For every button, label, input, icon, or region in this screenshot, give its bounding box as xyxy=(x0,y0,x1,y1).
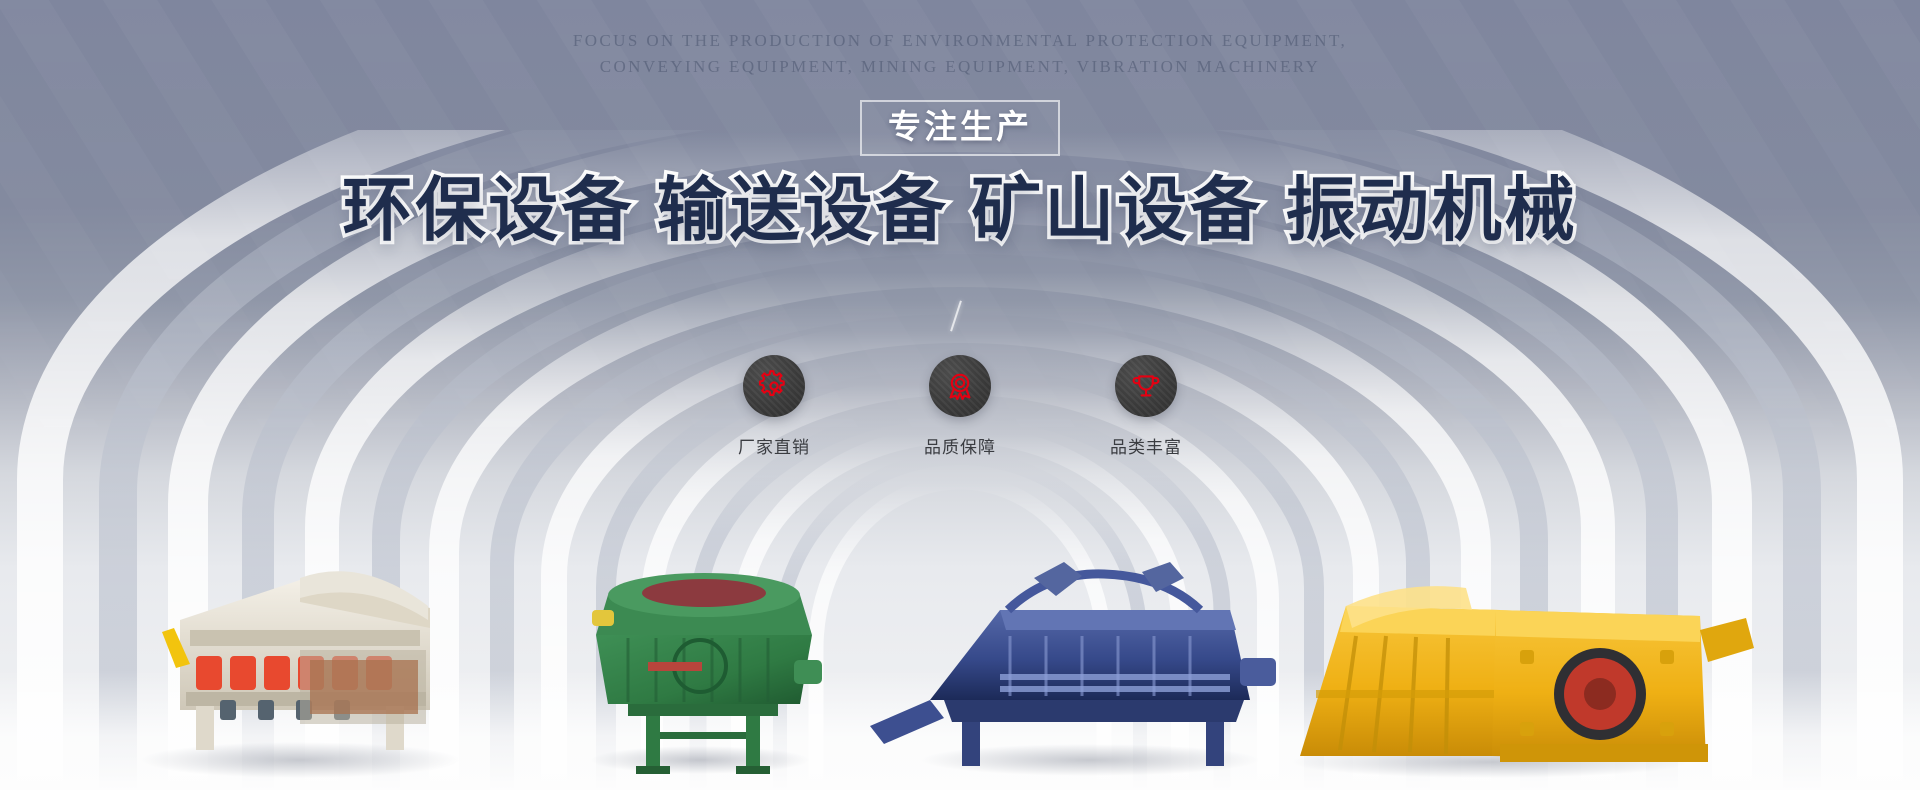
eyebrow-tagline: FOCUS ON THE PRODUCTION OF ENVIRONMENTAL… xyxy=(0,28,1920,80)
badge-wrapper: 专注生产 xyxy=(0,100,1920,156)
decorative-tick xyxy=(950,300,962,331)
feature-list: 厂家直销 品质保障 xyxy=(0,355,1920,458)
feature-label: 品质保障 xyxy=(924,433,996,458)
feature-label: 品类丰富 xyxy=(1110,433,1182,458)
focus-production-badge: 专注生产 xyxy=(860,100,1060,156)
feature-item-factory-direct[interactable]: 厂家直销 xyxy=(712,355,836,458)
trophy-icon xyxy=(1115,355,1177,417)
hero-banner: FOCUS ON THE PRODUCTION OF ENVIRONMENTAL… xyxy=(0,0,1920,790)
feature-item-quality[interactable]: 品质保障 xyxy=(898,355,1022,458)
gear-icon xyxy=(743,355,805,417)
feature-label: 厂家直销 xyxy=(738,433,810,458)
feature-item-variety[interactable]: 品类丰富 xyxy=(1084,355,1208,458)
medal-icon xyxy=(929,355,991,417)
page-title: 环保设备 输送设备 矿山设备 振动机械 xyxy=(0,175,1920,245)
